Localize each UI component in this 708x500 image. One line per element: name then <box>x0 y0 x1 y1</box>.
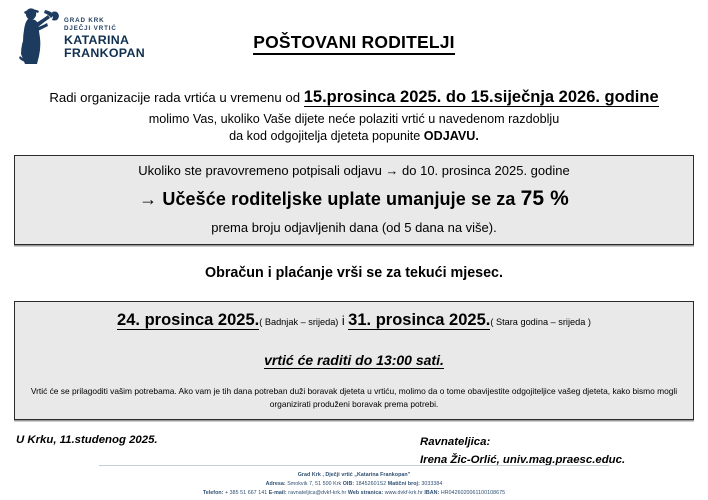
intro-line-1: Radi organizacije rada vrtića u vremenu … <box>0 88 708 107</box>
holiday-closing-time: vrtić će raditi do 13:00 sati. <box>23 352 685 368</box>
intro-line-1-prefix: Radi organizacije rada vrtića u vremenu … <box>49 90 303 105</box>
holiday-date-1: 24. prosinca 2025. <box>117 311 259 330</box>
footer-address-line: Adresa: Smokvik 7, 51 500 Krk OIB: 18452… <box>0 480 708 489</box>
place-and-date: U Krku, 11.studenog 2025. <box>16 434 158 446</box>
holiday-dates-conjunction: i <box>338 314 348 328</box>
holiday-date-2-note: ( Stara godina – srijeda ) <box>490 317 591 327</box>
discount-headline-prefix: → Učešće roditeljske uplate umanjuje se … <box>139 189 520 209</box>
footer-divider <box>99 465 609 466</box>
footer-address-value: Smokvik 7, 51 500 Krk <box>286 481 343 487</box>
footer-phone-label: Telefon: <box>203 490 224 496</box>
footer-org-name: Grad Krk , Dječji vrtić „Katarina Franko… <box>298 472 410 478</box>
holiday-dates-line: 24. prosinca 2025.( Badnjak – srijeda) i… <box>23 311 685 330</box>
footer-email-label: E-mail: <box>269 490 287 496</box>
discount-info-box: Ukoliko ste pravovremeno potpisali odjav… <box>14 155 694 245</box>
document-footer: Grad Krk , Dječji vrtić „Katarina Franko… <box>0 465 708 498</box>
discount-basis-line: prema broju odjavljenih dana (od 5 dana … <box>21 220 687 235</box>
billing-statement: Obračun i plaćanje vrši se za tekući mje… <box>0 265 708 281</box>
footer-org-line: Grad Krk , Dječji vrtić „Katarina Franko… <box>0 471 708 480</box>
holiday-date-2: 31. prosinca 2025. <box>348 311 490 330</box>
footer-email-value[interactable]: ravnateljica@dvkf-krk.hr <box>287 490 348 496</box>
holiday-date-1-note: ( Badnjak – srijeda) <box>259 317 338 327</box>
signatory-role: Ravnateljica: <box>420 434 625 452</box>
intro-block: Radi organizacije rada vrtića u vremenu … <box>0 88 708 143</box>
page-title-text: POŠTOVANI RODITELJI <box>253 32 455 55</box>
footer-web-value[interactable]: www.dvkf-krk.hr <box>383 490 424 496</box>
footer-contact-line: Telefon: + 385 51 667 141 E-mail: ravnat… <box>0 489 708 498</box>
footer-web-label: Web stranica: <box>348 490 383 496</box>
footer-iban-label: IBAN: <box>424 490 439 496</box>
intro-date-range: 15.prosinca 2025. do 15.siječnja 2026. g… <box>304 88 659 107</box>
logo-line-grad-krk: GRAD KRK <box>64 18 145 24</box>
holiday-note-paragraph: Vrtić će se prilagoditi vašim potrebama.… <box>23 385 685 411</box>
holiday-hours-box: 24. prosinca 2025.( Badnjak – srijeda) i… <box>14 301 694 420</box>
footer-phone-value: + 385 51 667 141 <box>223 490 268 496</box>
intro-line-3-prefix: da kod odgojitelja djeteta popunite <box>229 129 424 143</box>
intro-odjavu-bold: ODJAVU. <box>424 129 479 143</box>
discount-percent: 75 % <box>521 187 569 210</box>
discount-condition-line: Ukoliko ste pravovremeno potpisali odjav… <box>21 163 687 178</box>
footer-maticni-value: 3033384 <box>420 481 443 487</box>
footer-address-label: Adresa: <box>266 481 286 487</box>
footer-iban-value: HR0426020061100108675 <box>439 490 505 496</box>
footer-oib-label: OIB: <box>343 481 354 487</box>
page-title: POŠTOVANI RODITELJI <box>0 32 708 53</box>
footer-maticni-label: Matični broj: <box>388 481 420 487</box>
document-header: GRAD KRK DJEČJI VRTIĆ KATARINA FRANKOPAN… <box>0 0 708 72</box>
discount-headline: → Učešće roditeljske uplate umanjuje se … <box>21 187 687 211</box>
intro-line-3: da kod odgojitelja djeteta popunite ODJA… <box>0 129 708 143</box>
footer-oib-value: 18452601S2 <box>354 481 388 487</box>
holiday-closing-time-text: vrtić će raditi do 13:00 sati. <box>264 352 444 369</box>
intro-line-2: molimo Vas, ukoliko Vaše dijete neće pol… <box>0 112 708 126</box>
